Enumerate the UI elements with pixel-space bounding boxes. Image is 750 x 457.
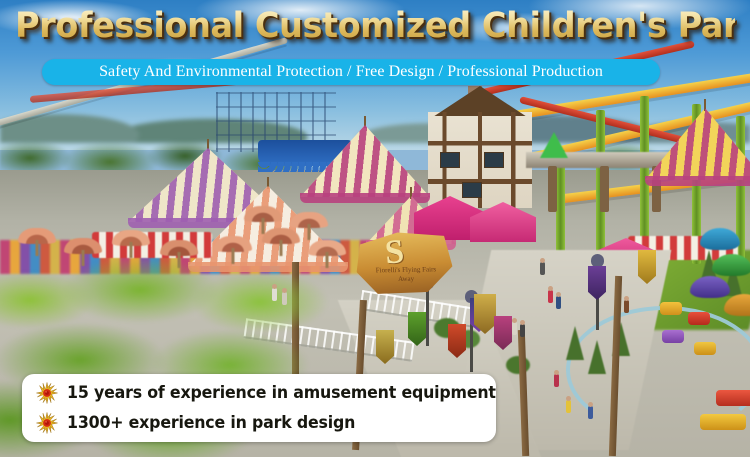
teacup-ride-seat [712, 254, 750, 276]
tudor-window-2 [484, 152, 504, 168]
walkway-post-2 [600, 166, 609, 212]
features-panel: 15 years of experience in amusement equi… [22, 374, 496, 442]
feature-row-2: 1300+ experience in park design [22, 408, 496, 438]
tudor-window-3 [462, 182, 482, 198]
promo-banner: S Fiorelli's Flying Fairs Away Professio… [0, 0, 750, 457]
tent-gold-magenta [645, 108, 750, 180]
visitor [554, 374, 559, 387]
visitor [624, 300, 629, 313]
walkway-post-1 [548, 166, 557, 212]
green-peak-tent [540, 132, 568, 158]
park-sign: S Fiorelli's Flying Fairs Away [353, 228, 454, 298]
feature-row-1: 15 years of experience in amusement equi… [22, 378, 496, 408]
visitor [272, 288, 277, 301]
ride-seat [662, 330, 684, 343]
visitor [520, 324, 525, 337]
umbrella-canopy [18, 228, 56, 244]
umbrella-canopy [262, 228, 300, 244]
lamp-post [426, 286, 429, 346]
tudor-building [428, 112, 532, 208]
sign-subtext: Fiorelli's Flying Fairs Away [369, 265, 443, 284]
visitor [512, 322, 517, 335]
visitor [548, 290, 553, 303]
conifer-tree [566, 326, 584, 360]
visitor [566, 400, 571, 413]
ride-seat [716, 390, 750, 406]
feature-label: 1300+ experience in park design [67, 413, 355, 433]
starburst-icon [36, 382, 58, 404]
tudor-window-1 [440, 152, 460, 168]
conifer-tree [588, 340, 606, 374]
umbrella-canopy [112, 230, 150, 246]
ride-seat [688, 312, 710, 325]
starburst-icon [36, 412, 58, 434]
subtitle-banner: Safety And Environmental Protection / Fr… [42, 59, 660, 85]
subtitle-text: Safety And Environmental Protection / Fr… [99, 63, 603, 81]
feature-label: 15 years of experience in amusement equi… [67, 383, 496, 403]
ride-seat [660, 302, 682, 315]
page-title: Professional Customized Children's Park [15, 6, 735, 46]
visitor [588, 406, 593, 419]
visitor [556, 296, 561, 309]
visitor [540, 262, 545, 275]
umbrella-canopy [244, 206, 282, 222]
tent-skirt [645, 176, 750, 186]
visitor [282, 292, 287, 305]
ride-seat [694, 342, 716, 355]
umbrella-canopy [290, 212, 328, 228]
ride-seat [700, 414, 746, 430]
